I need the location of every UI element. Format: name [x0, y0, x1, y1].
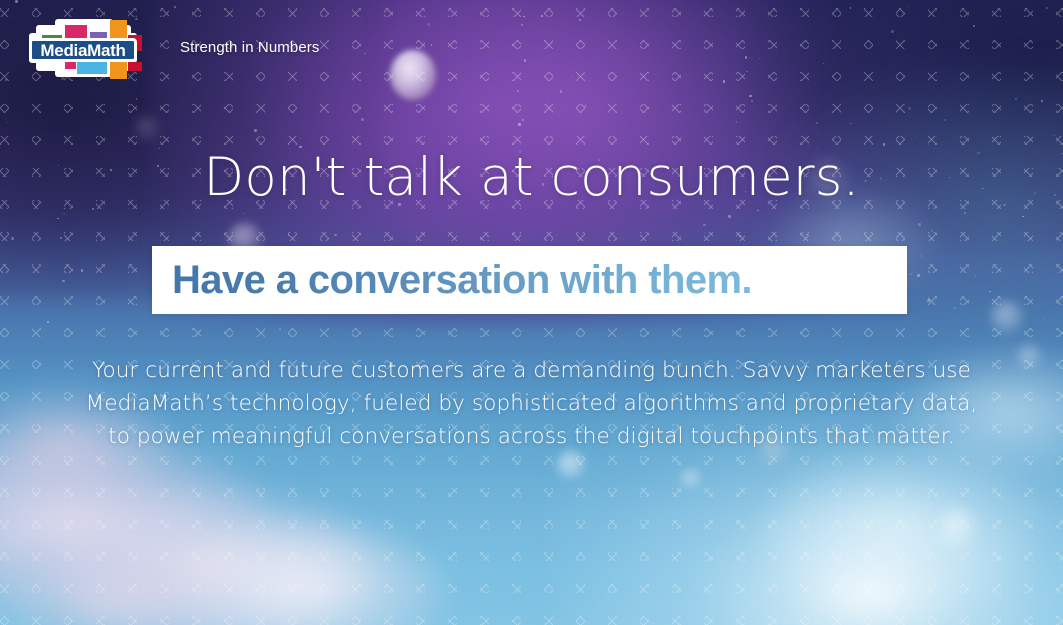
body-line-2: MediaMath’s technology, fueled by sophis…	[0, 387, 1063, 420]
mediamath-logo[interactable]: MediaMath	[22, 15, 144, 80]
logo-block-crimson	[128, 62, 142, 71]
body-line-3: to power meaningful conversations across…	[0, 420, 1063, 453]
logo-nameplate: MediaMath	[29, 38, 137, 62]
hero-content: Don't talk at consumers. Have a conversa…	[0, 0, 1063, 625]
hero-slide: MediaMath Strength in Numbers Don't talk…	[0, 0, 1063, 625]
hero-banner-text: Have a conversation with them.	[172, 260, 752, 300]
hero-banner: Have a conversation with them.	[152, 246, 907, 314]
site-header: MediaMath Strength in Numbers	[0, 0, 319, 80]
hero-body-copy: Your current and future customers are a …	[0, 354, 1063, 453]
logo-block-cyan	[77, 62, 107, 74]
tagline: Strength in Numbers	[180, 39, 319, 56]
logo-wordmark: MediaMath	[40, 42, 125, 59]
body-line-1: Your current and future customers are a …	[0, 354, 1063, 387]
logo-block-magenta-low	[65, 62, 76, 69]
logo-block-orange-low	[110, 62, 127, 79]
hero-headline: Don't talk at consumers.	[0, 150, 1063, 206]
